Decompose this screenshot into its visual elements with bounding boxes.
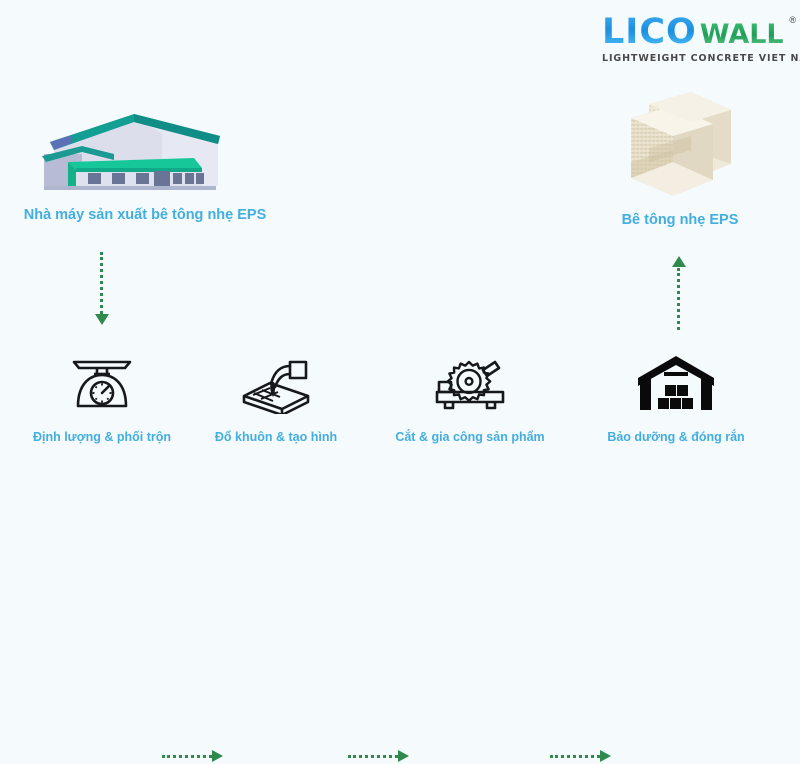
diagram-canvas: LICO WALL ® LIGHTWEIGHT CONCRETE VIET NA… — [0, 0, 800, 500]
logo-word-wall: WALL — [700, 17, 784, 53]
weighing-scale-icon — [14, 350, 190, 416]
node-product-label: Bê tông nhẹ EPS — [590, 212, 770, 228]
process-step-3: Cắt & gia công sản phẩm — [382, 350, 558, 444]
factory-building-icon — [42, 100, 222, 195]
process-step-4: Bảo dưỡng & đóng rắn — [588, 350, 764, 444]
eps-concrete-block-icon — [621, 88, 739, 200]
arrow-right-dotted-icon-1 — [162, 748, 228, 764]
mold-casting-icon — [188, 350, 364, 416]
arrow-stem — [100, 252, 103, 314]
process-step-4-label: Bảo dưỡng & đóng rắn — [588, 430, 764, 444]
process-step-2-label: Đổ khuôn & tạo hình — [188, 430, 364, 444]
process-step-1-label: Định lượng & phối trộn — [14, 430, 190, 444]
arrow-down-dotted-icon — [92, 252, 112, 330]
logo-tagline: LIGHTWEIGHT CONCRETE VIET NAM — [602, 53, 794, 64]
arrow-stem — [348, 755, 398, 758]
process-step-3-label: Cắt & gia công sản phẩm — [382, 430, 558, 444]
arrow-up-dotted-icon — [669, 252, 689, 330]
arrow-head — [398, 750, 409, 762]
node-product: Bê tông nhẹ EPS — [590, 88, 770, 228]
arrow-head — [672, 256, 686, 267]
process-steps-row: Định lượng & phối trộn — [0, 350, 800, 460]
arrow-right-dotted-icon-3 — [550, 748, 616, 764]
registered-trademark-icon: ® — [789, 16, 796, 25]
arrow-stem — [550, 755, 600, 758]
arrow-stem — [162, 755, 212, 758]
process-step-2: Đổ khuôn & tạo hình — [188, 350, 364, 444]
licowall-logo: LICO WALL ® LIGHTWEIGHT CONCRETE VIET NA… — [602, 14, 794, 74]
process-step-1: Định lượng & phối trộn — [14, 350, 190, 444]
arrow-stem — [677, 268, 680, 330]
node-factory-label: Nhà máy sản xuất bê tông nhẹ EPS — [20, 207, 270, 223]
logo-wordmark: LICO WALL ® — [602, 14, 794, 50]
arrow-head — [212, 750, 223, 762]
node-factory: Nhà máy sản xuất bê tông nhẹ EPS — [20, 100, 270, 223]
logo-word-lico: LICO — [602, 14, 697, 50]
circular-saw-icon — [382, 350, 558, 416]
warehouse-storage-icon — [588, 350, 764, 416]
arrow-head — [600, 750, 611, 762]
arrow-head — [95, 314, 109, 325]
arrow-right-dotted-icon-2 — [348, 748, 414, 764]
